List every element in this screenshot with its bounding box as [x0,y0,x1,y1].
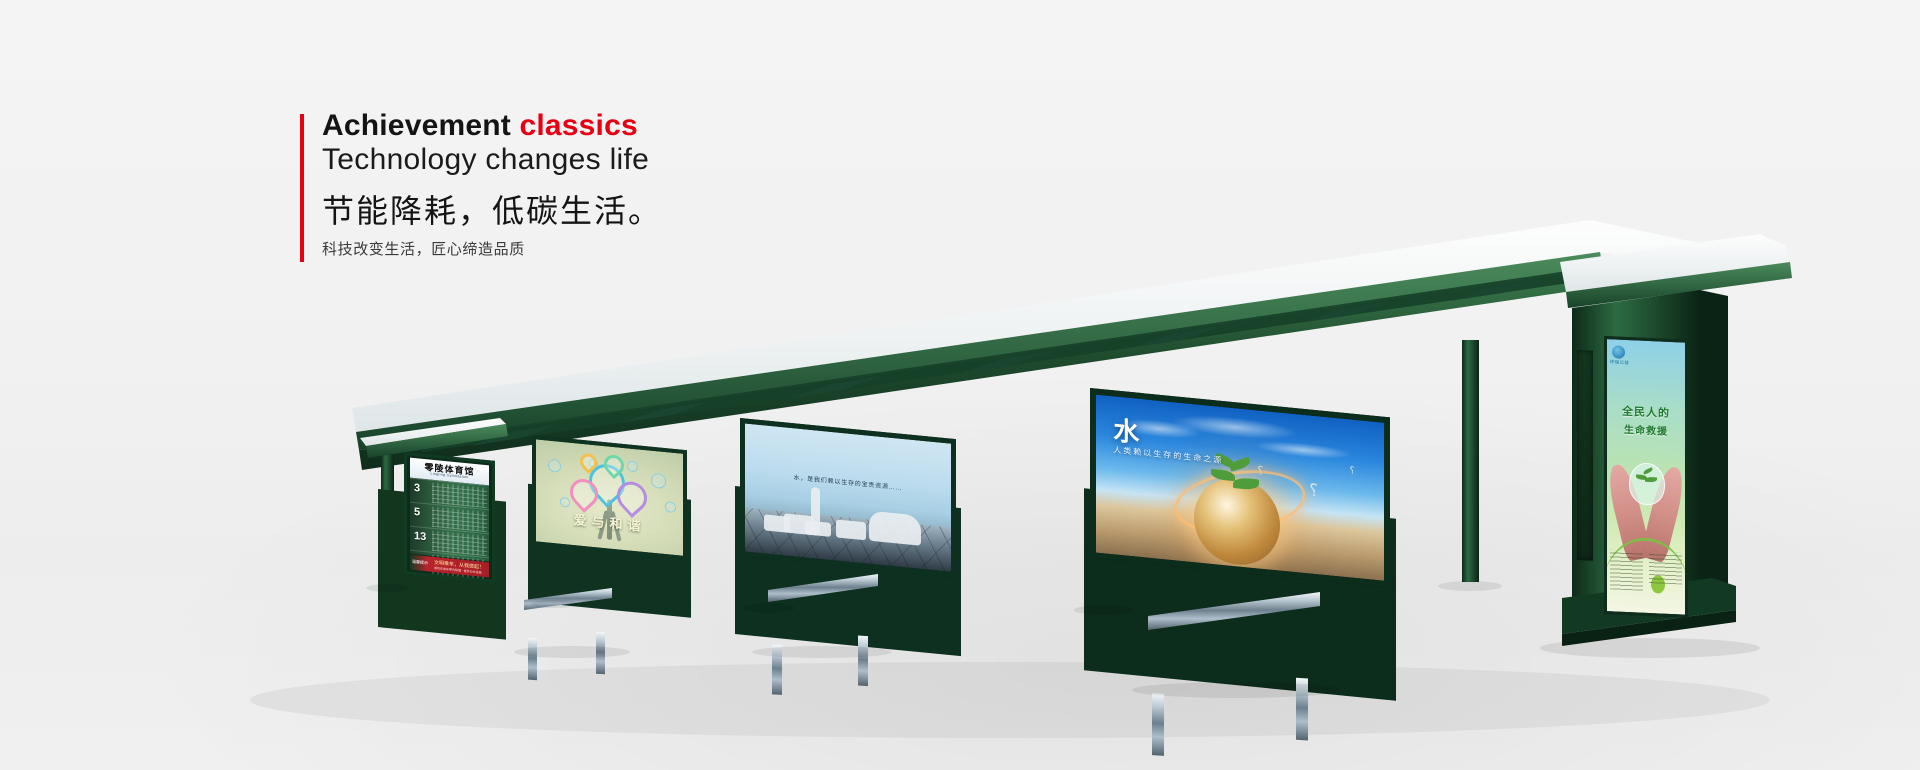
kiosk-headline-bottom-text: 生命救援 [1624,425,1668,438]
camel-silhouette [836,519,866,540]
love-tree-artwork: 爱与和谐 [536,439,683,555]
animals-artwork: 水，是我们赖以生存的宝贵资源…… [745,423,951,571]
timetable-routes: 3 5 13 23 [410,478,489,562]
scene-background: Achievement classics Technology changes … [0,0,1920,770]
animals-lightbox[interactable]: 水，是我们赖以生存的宝贵资源…… [740,418,956,577]
bus-shelter: 零陵体育馆 Lingling Gymnasium 3 5 13 23 [0,0,1920,770]
footer-label: 温馨提示 [412,559,428,567]
love-tree-lightbox[interactable]: 爱与和谐 [532,435,687,560]
bubble-icon [627,461,638,473]
sprout-icon [1636,468,1656,493]
bird-icon: ⸮ [1309,482,1318,500]
kiosk-body-text [1610,549,1682,610]
bird-icon: ⸮ [1349,467,1354,478]
caption-mid: 与 [591,514,609,531]
kiosk-lightbox[interactable]: 环保公益 全民人的 生命救援 [1604,336,1688,618]
route-number: 5 [414,506,420,519]
timetable-lightbox[interactable]: 零陵体育馆 Lingling Gymnasium 3 5 13 23 [404,452,495,583]
bubble-icon [560,497,570,508]
bubble-icon [548,459,561,473]
giraffe-body [805,520,831,537]
kiosk-side-strip [1577,350,1593,561]
kiosk-headline-top-text: 全民人的 [1622,406,1670,420]
caption-left: 爱 [573,512,591,529]
animals-caption-text: 水，是我们赖以生存的宝贵资源…… [794,476,903,493]
eco-logo-text: 环保公益 [1610,359,1629,366]
bubble-icon [651,473,666,489]
kiosk-headline-bottom: 生命救援 [1607,419,1685,441]
kiosk-artwork: 环保公益 全民人的 生命救援 [1607,339,1685,615]
caption-right: 和谐 [610,516,646,535]
route-number: 3 [414,482,420,495]
body-text-column-right [1649,551,1682,584]
animals-caption: 水，是我们赖以生存的宝贵资源…… [745,462,951,500]
water-artwork: ⸮ ⸮ ⸮ 水 人类赖以生存的生命之源 [1096,395,1384,581]
eco-logo-icon [1612,345,1625,359]
bubble-icon [665,501,676,513]
water-lightbox[interactable]: ⸮ ⸮ ⸮ 水 人类赖以生存的生命之源 [1090,388,1390,587]
route-number: 13 [414,530,426,543]
elephant-silhouette [869,511,921,546]
body-text-column-left [1610,549,1643,590]
